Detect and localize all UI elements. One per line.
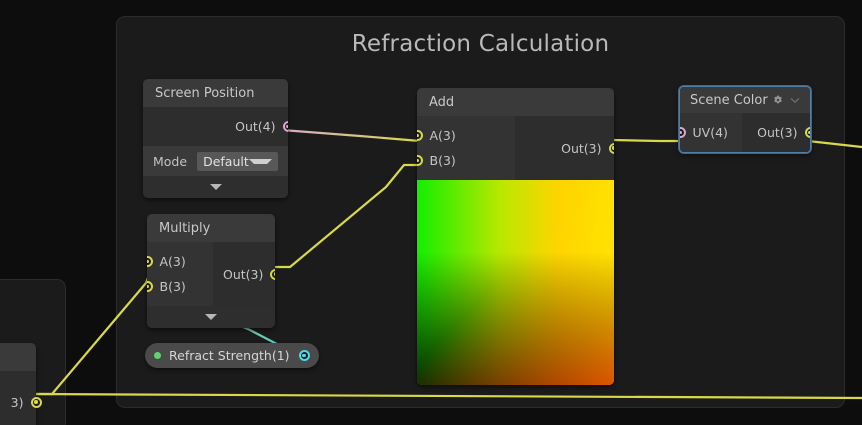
node-title: Add xyxy=(429,95,602,110)
chevron-down-icon[interactable] xyxy=(790,93,800,107)
property-dot-icon xyxy=(154,352,161,359)
slot-label-in-b: B(3) xyxy=(430,153,456,168)
slot-label-in-b: B(3) xyxy=(160,279,186,294)
slot-label-out: Out(3) xyxy=(223,267,263,282)
settings-label-mode: Mode xyxy=(153,154,187,169)
port-in-uv-vector4[interactable] xyxy=(679,127,686,138)
node-multiply[interactable]: Multiply A(3) B(3) Out(3) xyxy=(147,214,275,328)
port-out-vector3[interactable] xyxy=(31,397,42,408)
wire-multiply-to-add-b xyxy=(269,165,420,267)
node-title: Scene Color xyxy=(690,93,768,108)
slot-label-out: Out(4) xyxy=(235,119,275,134)
node-title: Screen Position xyxy=(155,86,276,101)
chevron-down-icon xyxy=(205,314,217,320)
node-slots: 3) xyxy=(0,371,36,425)
slot-out[interactable]: Out(3) xyxy=(525,136,614,161)
port-out-vector3[interactable] xyxy=(270,269,275,280)
chevron-down-icon xyxy=(210,184,222,190)
wire-screenposition-to-add-a xyxy=(282,130,420,141)
port-in-b-vector3[interactable] xyxy=(147,281,153,292)
node-footer-collapse[interactable] xyxy=(143,176,288,198)
node-slots: A(3) B(3) Out(3) xyxy=(417,116,614,180)
node-header-multiply[interactable]: Multiply xyxy=(147,214,275,242)
node-footer-collapse[interactable] xyxy=(147,306,275,328)
slot-label-out: Out(3) xyxy=(757,125,797,140)
slot-label-out: 3) xyxy=(11,395,24,410)
slot-in-b[interactable]: B(3) xyxy=(417,148,505,173)
port-out-vector3[interactable] xyxy=(609,143,615,154)
wire-offscreen-to-multiply-a xyxy=(30,267,160,394)
node-slots: UV(4) Out(3) xyxy=(680,113,810,152)
slot-in-a[interactable]: A(3) xyxy=(147,249,203,274)
slot-in-a[interactable]: A(3) xyxy=(417,123,505,148)
chevron-down-icon xyxy=(249,159,272,164)
node-scene-color[interactable]: Scene Color UV(4) Out(3 xyxy=(679,86,811,153)
slot-label-in-a: A(3) xyxy=(160,254,186,269)
slot-out[interactable]: Out(4) xyxy=(153,114,288,139)
node-preview-swatch xyxy=(417,180,614,385)
slot-out[interactable]: Out(3) xyxy=(223,262,275,287)
port-in-a-vector3[interactable] xyxy=(417,130,423,141)
node-header-screen-position[interactable]: Screen Position xyxy=(143,79,288,107)
port-out-vector4[interactable] xyxy=(283,121,289,132)
shader-graph-canvas[interactable]: Refraction Calculation xyxy=(0,0,862,425)
port-out-float[interactable] xyxy=(299,350,310,361)
node-title: Multiply xyxy=(159,221,263,236)
slot-label-in-a: A(3) xyxy=(430,128,456,143)
node-slots: Out(4) xyxy=(143,107,288,146)
wire-scenecolor-out-to-right xyxy=(808,141,862,147)
slot-label-out: Out(3) xyxy=(561,141,601,156)
port-out-vector3[interactable] xyxy=(805,127,812,138)
wire-add-to-scenecolor-uv xyxy=(613,140,688,141)
wire-offscreen-horizontal-run xyxy=(30,394,862,398)
node-screen-position[interactable]: Screen Position Out(4) Mode Default xyxy=(143,79,288,198)
node-slots: A(3) B(3) Out(3) xyxy=(147,242,275,306)
settings-row-mode: Mode Default xyxy=(143,146,288,176)
node-header-scene-color[interactable]: Scene Color xyxy=(680,87,810,113)
slot-in-uv[interactable]: UV(4) xyxy=(680,120,732,145)
slot-label-in-uv: UV(4) xyxy=(693,125,728,140)
node-add[interactable]: Add A(3) B(3) Out(3) xyxy=(417,88,614,385)
node-header-add[interactable]: Add xyxy=(417,88,614,116)
node-offscreen-partial[interactable]: 3) xyxy=(0,343,36,425)
dropdown-value: Default xyxy=(203,154,249,169)
slot-out[interactable]: Out(3) xyxy=(752,120,810,145)
slot-in-b[interactable]: B(3) xyxy=(147,274,203,299)
port-in-b-vector3[interactable] xyxy=(417,155,423,166)
property-label: Refract Strength(1) xyxy=(169,348,290,363)
node-header-offscreen[interactable] xyxy=(0,343,36,371)
gear-icon[interactable] xyxy=(772,93,784,107)
port-in-a-vector3[interactable] xyxy=(147,256,153,267)
dropdown-mode[interactable]: Default xyxy=(197,152,278,171)
property-node-refract-strength[interactable]: Refract Strength(1) xyxy=(145,343,319,368)
slot-out[interactable]: 3) xyxy=(0,378,36,425)
